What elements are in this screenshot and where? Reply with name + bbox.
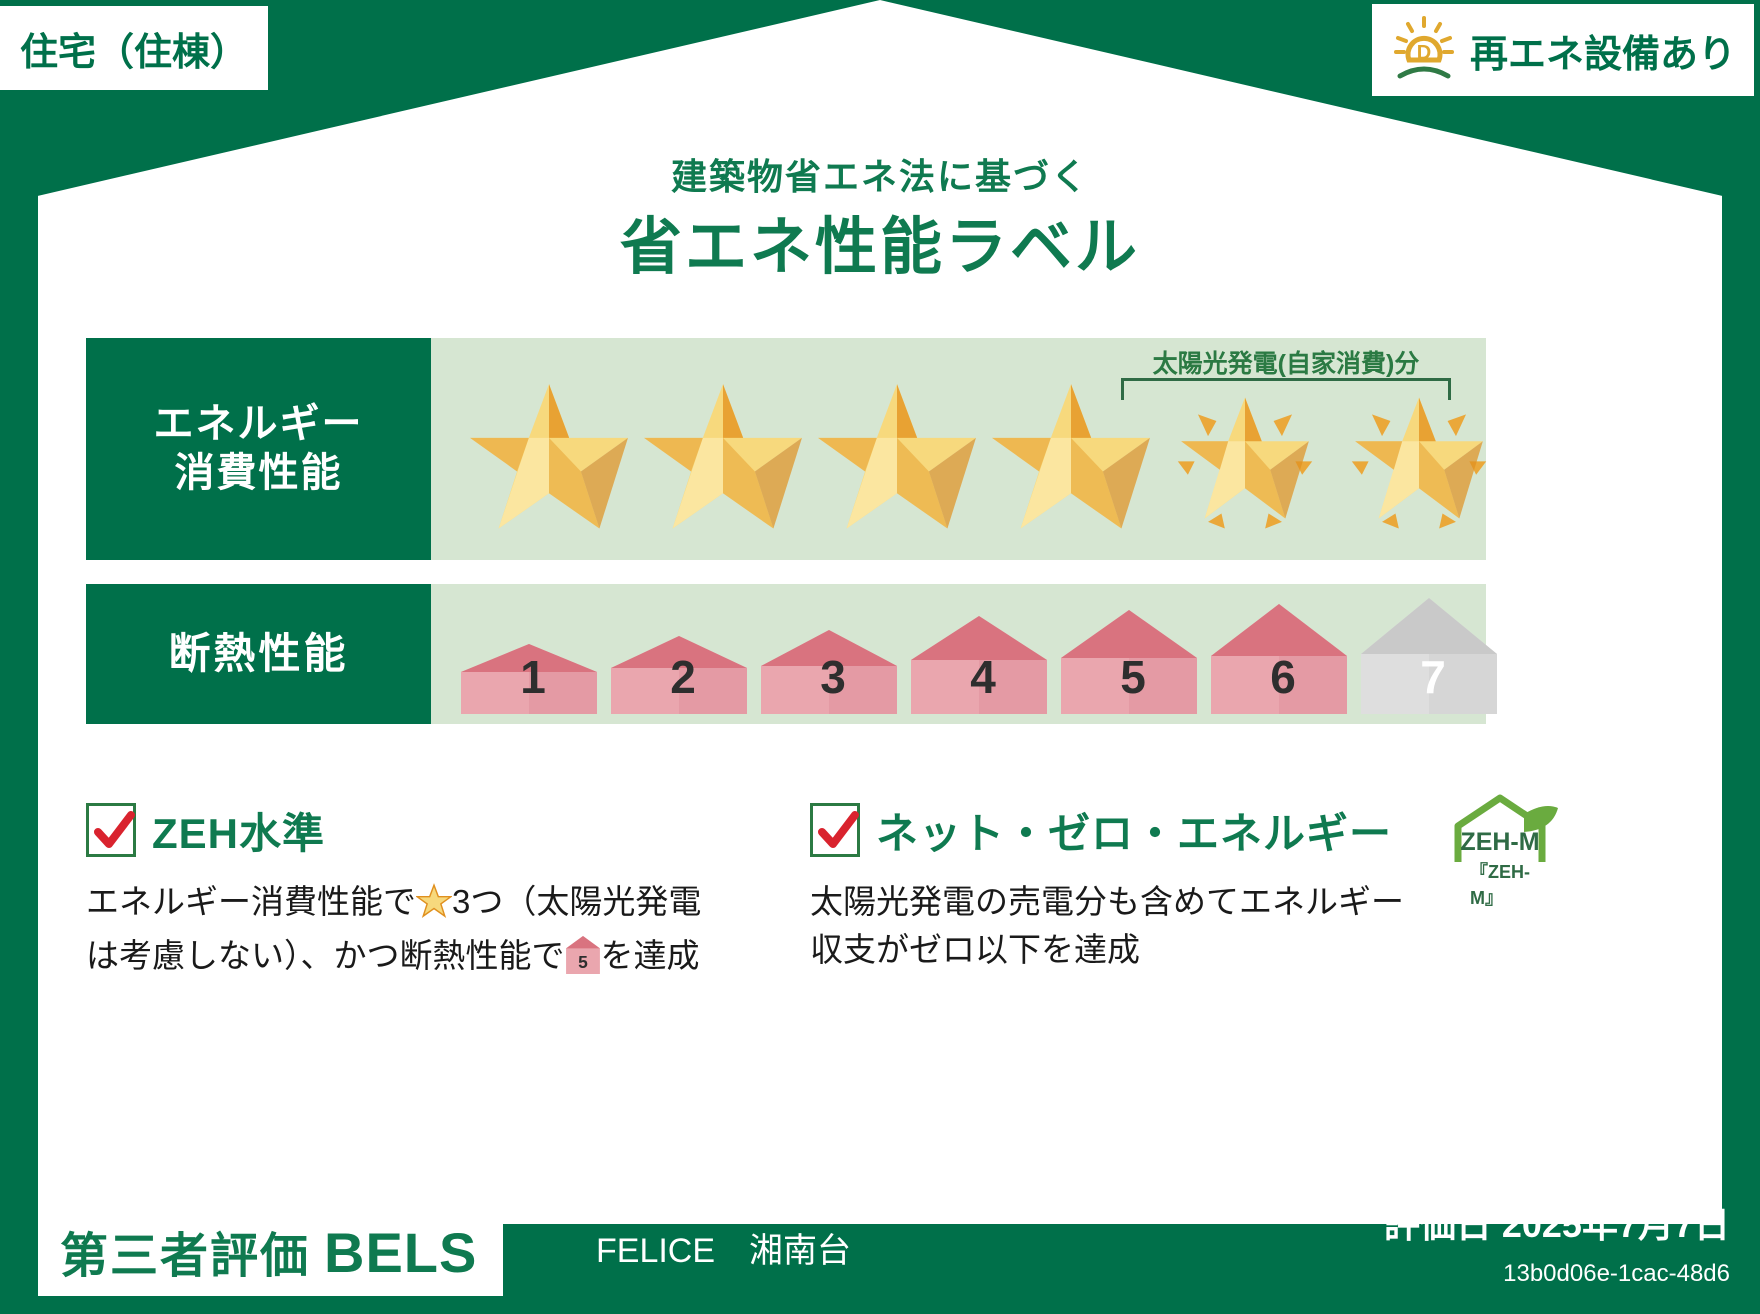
title-subtitle: 建築物省エネ法に基づく [0, 148, 1760, 200]
svg-text:ZEH-M: ZEH-M [1460, 828, 1539, 856]
energy-performance-row: エネルギー 消費性能 太陽光発電(自家消費)分 [86, 338, 1486, 560]
zeh-level-description: エネルギー消費性能で3つ（太陽光発電は考慮しない）、かつ断熱性能で5を達成 [86, 878, 786, 988]
insulation-scale: 1 2 3 [431, 584, 1486, 724]
star-filled [987, 374, 1155, 542]
evaluation-date: 評価日 2025年7月7日 [1384, 1196, 1730, 1248]
insulation-level-house: 6 [1209, 602, 1357, 716]
bels-logo-text: BELS [324, 1220, 477, 1285]
insulation-level-number: 4 [909, 650, 1057, 704]
zeh-desc-part4: を達成 [601, 937, 700, 974]
solar-sun-icon: D [1388, 12, 1460, 89]
net-zero-title: ネット・ゼロ・エネルギー [876, 800, 1392, 861]
insulation-level-house: 2 [609, 634, 757, 716]
insulation-level-house-inactive: 7 [1359, 596, 1507, 716]
inline-house-icon: 5 [565, 935, 601, 988]
property-name: FELICE 湘南台 [596, 1223, 851, 1272]
star-filled [639, 374, 807, 542]
energy-performance-label: エネルギー 消費性能 [86, 338, 431, 560]
insulation-level-house: 3 [759, 628, 907, 716]
net-zero-checkbox[interactable] [810, 803, 860, 857]
net-zero-desc-line1: 太陽光発電の売電分も含めてエネルギー [810, 883, 1404, 920]
svg-text:5: 5 [578, 952, 588, 972]
zeh-desc-part3: は考慮しない）、かつ断熱性能で [86, 937, 565, 974]
insulation-label-text: 断熱性能 [168, 628, 348, 679]
zeh-desc-part2: 3つ（太陽光発電 [452, 883, 701, 920]
insulation-level-house: 5 [1059, 608, 1207, 716]
insulation-performance-row: 断熱性能 1 2 [86, 584, 1486, 724]
insulation-level-number: 7 [1359, 650, 1507, 704]
building-type-label: 住宅（住棟） [20, 21, 248, 76]
star-filled-solar [1161, 374, 1329, 542]
inline-star-icon [416, 883, 452, 932]
net-zero-description: 太陽光発電の売電分も含めてエネルギー収支がゼロ以下を達成 [810, 878, 1510, 974]
energy-label-line2: 消費性能 [175, 449, 343, 498]
star-filled-solar [1335, 374, 1503, 542]
insulation-level-number: 1 [459, 650, 607, 704]
insulation-level-number: 2 [609, 650, 757, 704]
energy-label-line1: エネルギー [154, 400, 364, 449]
insulation-level-number: 3 [759, 650, 907, 704]
insulation-rating-area: 1 2 3 [431, 584, 1486, 724]
star-filled [813, 374, 981, 542]
star-rating [451, 338, 1486, 560]
net-zero-energy-block: ネット・ゼロ・エネルギー ZEH-M 『ZEH-M』 太陽光発電の売電分も含めて… [810, 800, 1510, 974]
insulation-level-house: 4 [909, 614, 1057, 716]
insulation-performance-label: 断熱性能 [86, 584, 431, 724]
building-type-badge: 住宅（住棟） [0, 6, 268, 90]
renewable-equipment-label: 再エネ設備あり [1470, 23, 1736, 78]
bels-badge: 第三者評価 BELS [38, 1206, 503, 1296]
renewable-equipment-badge: D 再エネ設備あり [1372, 4, 1754, 96]
insulation-level-house: 1 [459, 642, 607, 716]
insulation-level-number: 5 [1059, 650, 1207, 704]
zeh-level-title: ZEH水準 [152, 800, 325, 861]
net-zero-header: ネット・ゼロ・エネルギー ZEH-M 『ZEH-M』 [810, 800, 1510, 860]
star-filled [465, 374, 633, 542]
zeh-m-caption: 『ZEH-M』 [1470, 858, 1530, 910]
zeh-level-checkbox[interactable] [86, 803, 136, 857]
zeh-level-block: ZEH水準 エネルギー消費性能で3つ（太陽光発電は考慮しない）、かつ断熱性能で5… [86, 800, 786, 988]
zeh-desc-part1: エネルギー消費性能で [86, 883, 416, 920]
bels-japanese-label: 第三者評価 [60, 1216, 310, 1286]
insulation-level-number: 6 [1209, 650, 1357, 704]
page-title: 省エネ性能ラベル [0, 196, 1760, 286]
energy-rating-area: 太陽光発電(自家消費)分 [431, 338, 1486, 560]
zeh-level-header: ZEH水準 [86, 800, 786, 860]
net-zero-desc-line2: 収支がゼロ以下を達成 [810, 931, 1140, 968]
svg-text:D: D [1417, 42, 1431, 64]
evaluation-id: 13b0d06e-1cac-48d6 [1503, 1260, 1730, 1288]
